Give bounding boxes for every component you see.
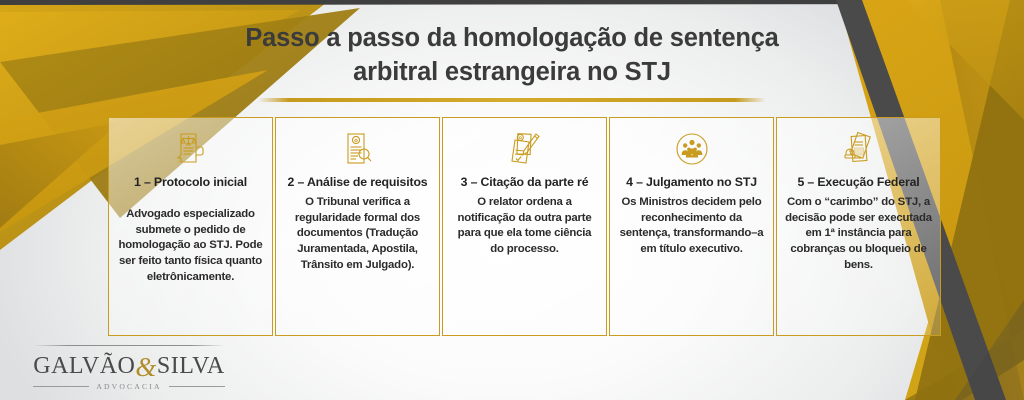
step-card-4-body: Os Ministros decidem pelo reconhecimento… (617, 195, 766, 258)
title-line-1: Passo a passo da homologação de sentença (0, 22, 1024, 56)
step-card-1-body: Advogado especializado submete o pedido … (116, 207, 265, 286)
page-title: Passo a passo da homologação de sentença… (0, 22, 1024, 102)
judges-panel-icon (671, 126, 713, 172)
step-card-4[interactable]: 4 – Julgamento no STJ Os Ministros decid… (609, 117, 774, 336)
step-card-5-body: Com o “carimbo” do STJ, a decisão pode s… (784, 195, 933, 274)
document-stamp-icon (838, 126, 880, 172)
logo-name-part1: GALVÃO (33, 353, 135, 379)
document-pen-icon (504, 126, 546, 172)
step-card-4-title: 4 – Julgamento no STJ (626, 175, 757, 191)
step-card-5-title: 5 – Execução Federal (797, 175, 919, 191)
logo-divider-top (33, 345, 225, 346)
document-scales-icon (170, 126, 212, 172)
title-underline (259, 98, 765, 102)
title-line-2: arbitral estrangeira no STJ (0, 56, 1024, 90)
step-card-3-body: O relator ordena a notificação da outra … (450, 195, 599, 258)
logo-subtitle-row: ADVOCACIA (33, 382, 225, 391)
logo-subtitle: ADVOCACIA (96, 382, 161, 391)
brand-logo: GALVÃO&SILVA ADVOCACIA (33, 345, 225, 391)
step-card-1[interactable]: 1 – Protocolo inicial Advogado especiali… (108, 117, 273, 336)
step-card-3[interactable]: 3 – Citação da parte ré O relator ordena… (442, 117, 607, 336)
ampersand-icon: & (135, 352, 157, 382)
step-card-5[interactable]: 5 – Execução Federal Com o “carimbo” do … (776, 117, 941, 336)
steps-row: 1 – Protocolo inicial Advogado especiali… (108, 117, 944, 336)
step-card-3-title: 3 – Citação da parte ré (461, 175, 589, 191)
logo-divider-left (33, 386, 89, 387)
step-card-1-title: 1 – Protocolo inicial (134, 175, 247, 191)
logo-divider-right (169, 386, 225, 387)
step-card-2-title: 2 – Análise de requisitos (288, 175, 428, 191)
logo-wordmark: GALVÃO&SILVA (33, 351, 225, 378)
logo-name-part2: SILVA (157, 353, 225, 379)
infographic-canvas: Passo a passo da homologação de sentença… (0, 0, 1024, 400)
step-card-2-body: O Tribunal verifica a regularidade forma… (283, 195, 432, 274)
step-card-2[interactable]: 2 – Análise de requisitos O Tribunal ver… (275, 117, 440, 336)
document-magnifier-icon (337, 126, 379, 172)
